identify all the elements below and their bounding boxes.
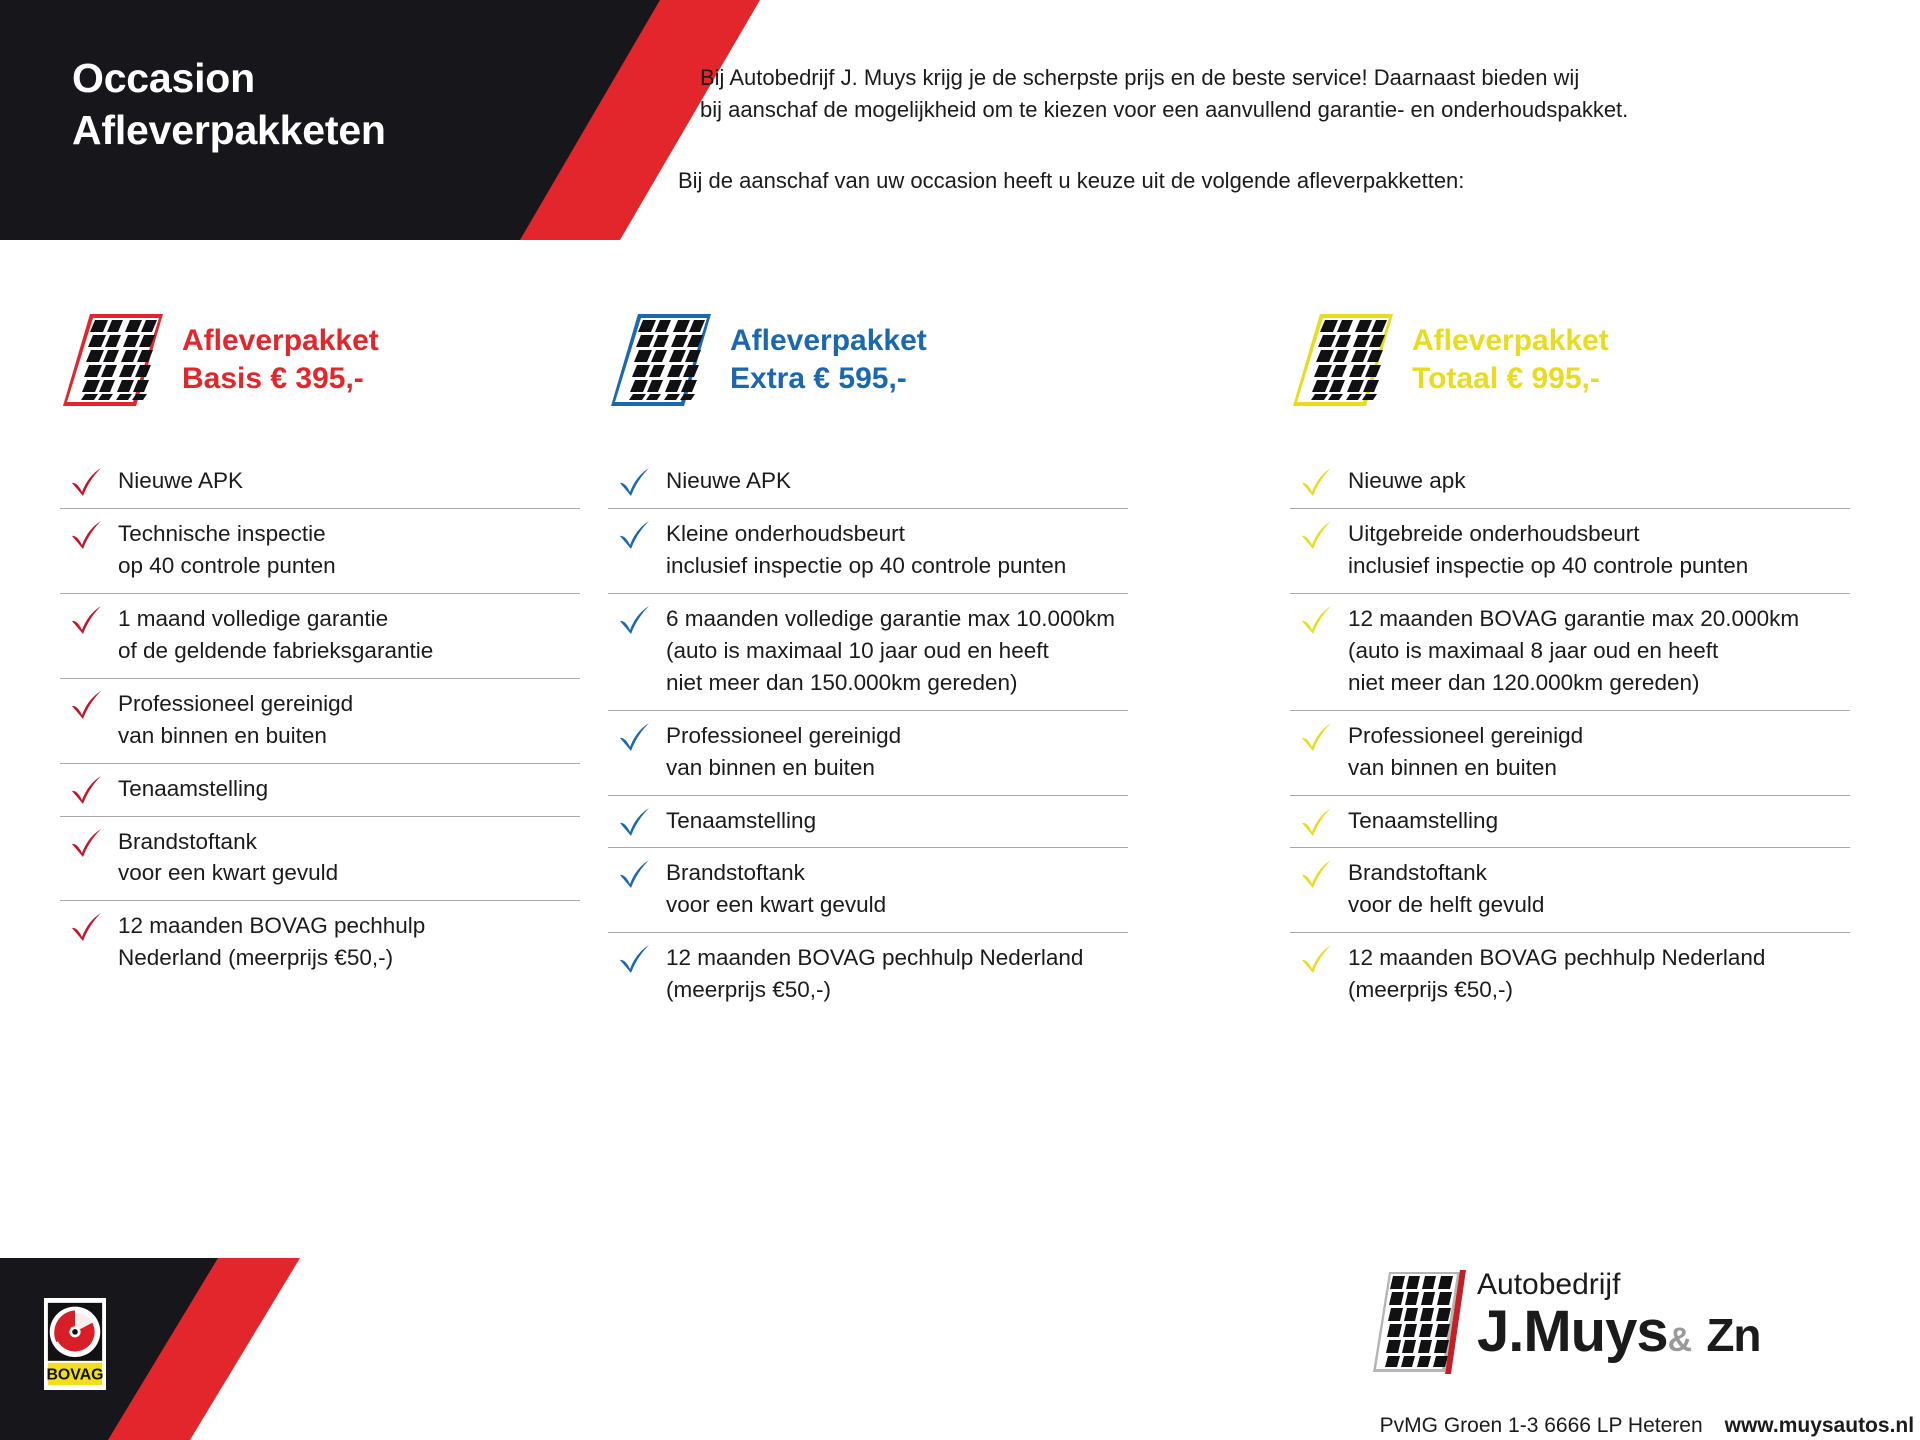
package-header-extra: Afleverpakket Extra € 595,-: [608, 300, 1128, 420]
tire-icon: [608, 308, 714, 412]
list-item: Tenaamstelling: [1290, 796, 1850, 849]
list-item: 12 maanden BOVAG pechhulp Nederland (mee…: [60, 901, 580, 985]
list-item-text: 12 maanden BOVAG pechhulp Nederland (mee…: [118, 901, 425, 985]
list-item: Brandstoftank voor een kwart gevuld: [608, 848, 1128, 933]
list-item: Uitgebreide onderhoudsbeurt inclusief in…: [1290, 509, 1850, 594]
header-choice-paragraph: Bij de aanschaf van uw occasion heeft u …: [678, 165, 1868, 197]
list-item: Tenaamstelling: [608, 796, 1128, 849]
list-item: Technische inspectie op 40 controle punt…: [60, 509, 580, 594]
package-columns: Afleverpakket Basis € 395,- Nieuwe APK T…: [0, 300, 1920, 1230]
list-item-text: Brandstoftank voor een kwart gevuld: [666, 848, 886, 932]
package-title: Afleverpakket Basis € 395,-: [182, 322, 379, 398]
list-item-text: Nieuwe APK: [118, 456, 243, 508]
tire-icon: [1290, 308, 1396, 412]
company-logo: Autobedrijf J.Muys& Zn: [1365, 1268, 1761, 1378]
list-item: 1 maand volledige garantie of de geldend…: [60, 594, 580, 679]
company-name-top: Autobedrijf: [1477, 1270, 1761, 1300]
list-item: Professioneel gereinigd van binnen en bu…: [1290, 711, 1850, 796]
check-icon: [1300, 859, 1334, 889]
list-item-text: Brandstoftank voor een kwart gevuld: [118, 817, 338, 901]
feature-list: Nieuwe APK Kleine onderhoudsbeurt inclus…: [608, 456, 1128, 1017]
list-item: 12 maanden BOVAG pechhulp Nederland (mee…: [1290, 933, 1850, 1017]
check-icon: [618, 807, 652, 837]
list-item: Brandstoftank voor de helft gevuld: [1290, 848, 1850, 933]
bovag-logo: BOVAG: [44, 1298, 106, 1390]
package-card-basis: Afleverpakket Basis € 395,- Nieuwe APK T…: [60, 300, 580, 985]
list-item-text: Uitgebreide onderhoudsbeurt inclusief in…: [1348, 509, 1748, 593]
header-intro-paragraph: Bij Autobedrijf J. Muys krijg je de sche…: [700, 62, 1870, 126]
list-item-text: Professioneel gereinigd van binnen en bu…: [1348, 711, 1583, 795]
list-item-text: 1 maand volledige garantie of de geldend…: [118, 594, 433, 678]
list-item-text: Tenaamstelling: [118, 764, 268, 816]
list-item-text: Tenaamstelling: [1348, 796, 1498, 848]
package-card-totaal: Afleverpakket Totaal € 995,- Nieuwe apk …: [1290, 300, 1850, 1017]
company-address: PvMG Groen 1-3 6666 LP Heterenwww.muysau…: [1368, 1390, 1914, 1438]
list-item-text: Nieuwe apk: [1348, 456, 1466, 508]
check-icon: [70, 912, 104, 942]
check-icon: [618, 520, 652, 550]
website-link[interactable]: www.muysautos.nl: [1725, 1414, 1914, 1437]
list-item: 6 maanden volledige garantie max 10.000k…: [608, 594, 1128, 711]
tire-icon: [1365, 1268, 1473, 1378]
check-icon: [618, 944, 652, 974]
tire-icon: [60, 308, 166, 412]
check-icon: [1300, 722, 1334, 752]
company-wordmark: Autobedrijf J.Muys& Zn: [1477, 1270, 1761, 1363]
list-item: Nieuwe APK: [60, 456, 580, 509]
page-title: Occasion Afleverpakketen: [72, 52, 386, 157]
list-item-text: Brandstoftank voor de helft gevuld: [1348, 848, 1544, 932]
list-item-text: 12 maanden BOVAG garantie max 20.000km (…: [1348, 594, 1799, 710]
list-item-text: Professioneel gereinigd van binnen en bu…: [666, 711, 901, 795]
package-card-extra: Afleverpakket Extra € 595,- Nieuwe APK K…: [608, 300, 1128, 1017]
check-icon: [70, 690, 104, 720]
address-text: PvMG Groen 1-3 6666 LP Heteren: [1380, 1414, 1703, 1437]
check-icon: [70, 605, 104, 635]
check-icon: [618, 605, 652, 635]
check-icon: [70, 775, 104, 805]
ampersand: &: [1668, 1321, 1692, 1359]
list-item-text: 6 maanden volledige garantie max 10.000k…: [666, 594, 1115, 710]
check-icon: [1300, 467, 1334, 497]
list-item-text: Technische inspectie op 40 controle punt…: [118, 509, 336, 593]
company-name-main: J.Muys& Zn: [1477, 1302, 1761, 1363]
page-header: Occasion Afleverpakketen Bij Autobedrijf…: [0, 0, 1920, 240]
company-name-muys: J.Muys: [1477, 1299, 1668, 1364]
bovag-label: BOVAG: [46, 1367, 103, 1384]
list-item-text: 12 maanden BOVAG pechhulp Nederland (mee…: [1348, 933, 1765, 1017]
list-item: Professioneel gereinigd van binnen en bu…: [60, 679, 580, 764]
check-icon: [1300, 520, 1334, 550]
package-header-basis: Afleverpakket Basis € 395,-: [60, 300, 580, 420]
feature-list: Nieuwe APK Technische inspectie op 40 co…: [60, 456, 580, 985]
list-item-text: Tenaamstelling: [666, 796, 816, 848]
list-item: Nieuwe apk: [1290, 456, 1850, 509]
check-icon: [70, 467, 104, 497]
list-item: 12 maanden BOVAG pechhulp Nederland (mee…: [608, 933, 1128, 1017]
check-icon: [1300, 807, 1334, 837]
check-icon: [618, 859, 652, 889]
list-item: Professioneel gereinigd van binnen en bu…: [608, 711, 1128, 796]
package-title: Afleverpakket Totaal € 995,-: [1412, 322, 1609, 398]
list-item: Brandstoftank voor een kwart gevuld: [60, 817, 580, 902]
list-item-text: Nieuwe APK: [666, 456, 791, 508]
list-item-text: Kleine onderhoudsbeurt inclusief inspect…: [666, 509, 1066, 593]
check-icon: [1300, 605, 1334, 635]
company-name-zn: Zn: [1706, 1309, 1760, 1361]
check-icon: [70, 520, 104, 550]
check-icon: [618, 467, 652, 497]
list-item: Tenaamstelling: [60, 764, 580, 817]
feature-list: Nieuwe apk Uitgebreide onderhoudsbeurt i…: [1290, 456, 1850, 1017]
list-item: 12 maanden BOVAG garantie max 20.000km (…: [1290, 594, 1850, 711]
list-item: Kleine onderhoudsbeurt inclusief inspect…: [608, 509, 1128, 594]
package-title: Afleverpakket Extra € 595,-: [730, 322, 927, 398]
list-item-text: 12 maanden BOVAG pechhulp Nederland (mee…: [666, 933, 1083, 1017]
check-icon: [70, 828, 104, 858]
list-item: Nieuwe APK: [608, 456, 1128, 509]
check-icon: [618, 722, 652, 752]
package-header-totaal: Afleverpakket Totaal € 995,-: [1290, 300, 1850, 420]
check-icon: [1300, 944, 1334, 974]
list-item-text: Professioneel gereinigd van binnen en bu…: [118, 679, 353, 763]
